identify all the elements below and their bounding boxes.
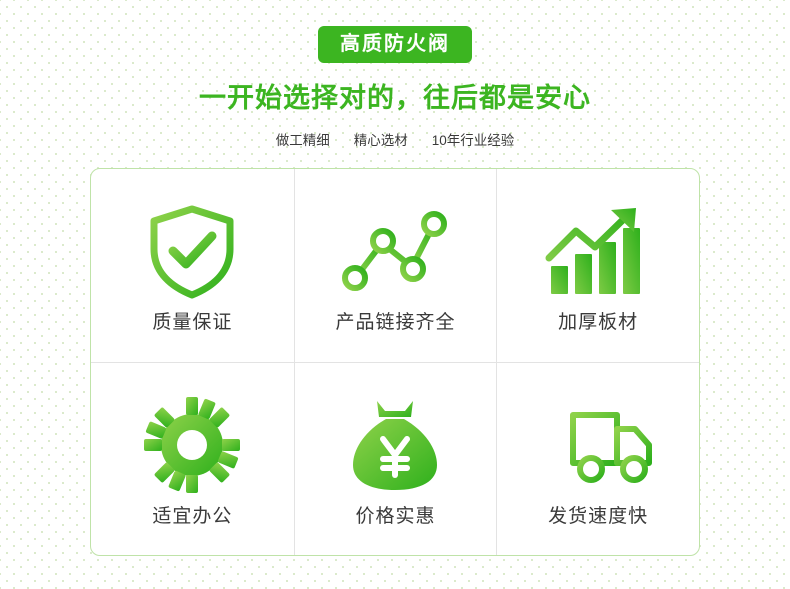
feature-label: 适宜办公: [152, 507, 232, 526]
delivery-truck-icon: [538, 393, 658, 497]
feature-cell-catalog: 产品链接齐全: [294, 169, 497, 362]
feature-grid: 质量保证: [91, 169, 699, 555]
feature-cell-price: 价格实惠: [294, 362, 497, 555]
header: 高质防火阀 一开始选择对的，往后都是安心 做工精细 精心选材 10年行业经验: [0, 0, 790, 148]
feature-cell-shipping: 发货速度快: [496, 362, 699, 555]
feature-card: 质量保证: [90, 168, 700, 556]
feature-label: 加厚板材: [558, 313, 638, 332]
feature-label: 发货速度快: [548, 507, 648, 526]
feature-label: 产品链接齐全: [335, 313, 455, 332]
page-title: 一开始选择对的，往后都是安心: [0, 85, 790, 112]
feature-cell-office: 适宜办公: [91, 362, 294, 555]
subtitle-item-2: 精心选材: [354, 134, 408, 148]
bar-growth-icon: [538, 199, 658, 303]
subtitle-row: 做工精细 精心选材 10年行业经验: [0, 134, 790, 148]
subtitle-item-1: 做工精细: [276, 134, 330, 148]
subtitle-item-3: 10年行业经验: [432, 134, 515, 148]
money-bag-icon: [335, 393, 455, 497]
feature-cell-thick-plate: 加厚板材: [496, 169, 699, 362]
feature-cell-quality: 质量保证: [91, 169, 294, 362]
node-chart-icon: [335, 199, 455, 303]
promo-banner: 高质防火阀 一开始选择对的，往后都是安心 做工精细 精心选材 10年行业经验: [0, 0, 790, 589]
feature-label: 价格实惠: [355, 507, 435, 526]
feature-label: 质量保证: [152, 313, 232, 332]
badge-title: 高质防火阀: [318, 26, 472, 63]
gear-icon: [132, 393, 252, 497]
shield-check-icon: [132, 199, 252, 303]
